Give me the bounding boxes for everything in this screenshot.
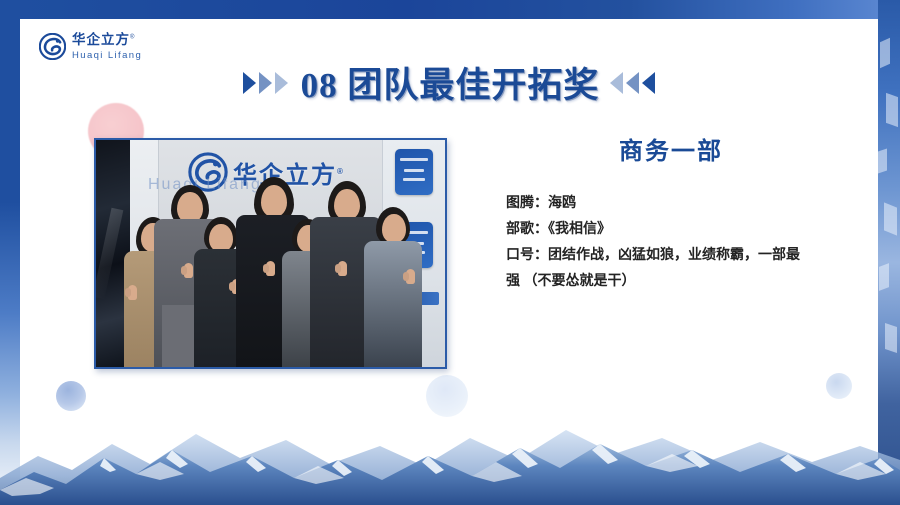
photo-person [364,207,422,367]
department-info: 图腾：海鸥 部歌：《我相信》 口号：团结作战，凶猛如狼，业绩称霸，一部最 强 （… [506,191,856,295]
info-row-totem: 图腾：海鸥 [506,191,856,217]
frame-top-band [0,0,900,19]
frame-right-mountain-strip [878,0,900,505]
decor-circle-blue-small [426,375,468,417]
triangle-right-icon [243,72,256,94]
decor-circle-blue-right [826,373,852,399]
info-row-slogan: 口号：团结作战，凶猛如狼，业绩称霸，一部最 [506,243,856,269]
info-row-song: 部歌：《我相信》 [506,217,856,243]
department-title: 商务一部 [486,131,856,166]
registered-mark-icon: ® [130,35,135,41]
slide-title-row: 08 团队最佳开拓奖 [20,57,878,108]
title-left-arrows [243,72,288,94]
triangle-right-icon [275,72,288,94]
slide-root: 华企立方® Huaqi Lifang 08 团队最佳开拓奖 [0,0,900,505]
info-row-slogan-cont: 强 （不要怂就是干） [506,269,856,295]
triangle-left-icon [626,72,639,94]
triangle-left-icon [610,72,623,94]
title-right-arrows [610,72,655,94]
slide-card: 华企立方® Huaqi Lifang 08 团队最佳开拓奖 [20,19,878,505]
triangle-right-icon [259,72,272,94]
swirl-e-logo-icon [39,33,66,60]
decor-circle-blue-large [56,381,86,411]
photo-wall-badge [395,149,433,195]
team-photo: 华企立方® Huaqi Lifang [94,138,447,369]
frame-left-band [0,0,20,505]
triangle-left-icon [642,72,655,94]
page-title: 08 团队最佳开拓奖 [301,57,600,108]
brand-logo-cn: 华企立方® [72,33,135,47]
